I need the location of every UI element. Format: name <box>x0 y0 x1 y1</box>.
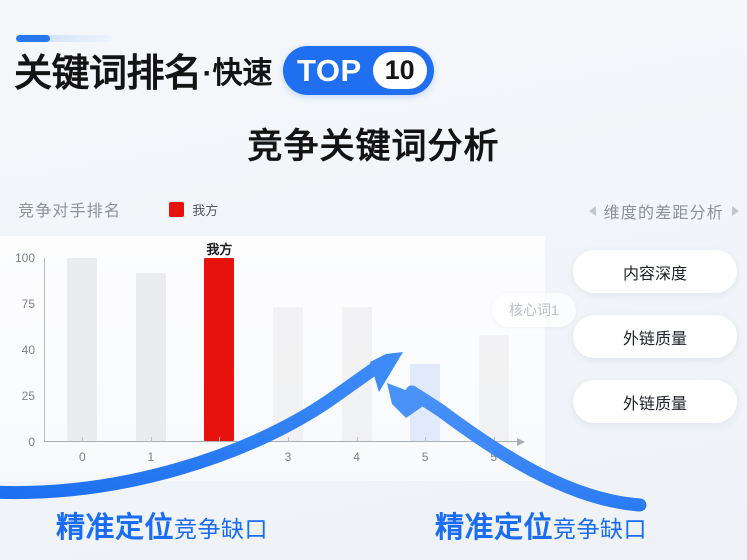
top-badge-label: TOP <box>297 55 373 86</box>
x-axis-tick <box>357 437 358 442</box>
x-axis-tick <box>425 437 426 442</box>
dimension-card[interactable]: 外链质量 <box>573 380 737 423</box>
x-axis-tick-label: 5 <box>490 450 497 464</box>
progress-bar <box>16 35 112 42</box>
x-axis-tick-label: 0 <box>79 450 86 464</box>
dimension-card-label: 外链质量 <box>623 390 687 414</box>
x-axis-tick-label: 3 <box>285 450 292 464</box>
dimension-card-list: 内容深度外链质量外链质量 <box>573 250 737 423</box>
top-rank-badge: TOP 10 <box>283 46 434 95</box>
y-axis-tick-label: 0 <box>28 435 35 449</box>
legend-swatch-mine <box>169 202 184 217</box>
dimension-panel-title: 维度的差距分析 <box>604 199 724 223</box>
highlight-bar-label: 我方 <box>206 239 232 258</box>
y-axis-tick-label: 100 <box>15 251 35 265</box>
section-title: 竞争关键词分析 <box>0 118 747 169</box>
caption-right-weak: 竞争缺口 <box>553 510 647 544</box>
y-axis-line <box>44 258 45 442</box>
dimension-card[interactable]: 外链质量 <box>573 315 737 358</box>
triangle-right-icon <box>732 206 739 216</box>
chart-plot-area: 1007540250 0123455 我方 <box>44 258 524 442</box>
top-badge-count: 10 <box>373 52 427 89</box>
x-axis-tick-label: 2 <box>216 450 223 464</box>
dimension-card-label: 外链质量 <box>623 325 687 349</box>
x-axis-tick-label: 1 <box>148 450 155 464</box>
bar-competitor <box>67 258 97 441</box>
slide-canvas: 关键词排名 ·快速 TOP 10 竞争关键词分析 竞争对手排名 我方 维度的差距… <box>0 0 747 560</box>
legend-label-mine: 我方 <box>192 200 218 219</box>
caption-left-strong: 精准定位 <box>56 504 174 546</box>
chart-legend: 我方 <box>169 200 218 219</box>
x-axis-line <box>44 441 524 442</box>
chart-axis-title: 竞争对手排名 <box>18 197 121 221</box>
caption-left-weak: 竞争缺口 <box>174 510 268 544</box>
headline: 关键词排名 ·快速 <box>14 48 273 100</box>
progress-bar-fill <box>16 35 50 42</box>
caption-left: 精准定位 竞争缺口 <box>56 504 268 546</box>
triangle-left-icon <box>589 206 596 216</box>
x-axis-arrow-icon <box>517 438 525 446</box>
x-axis-tick-label: 5 <box>422 450 429 464</box>
dimension-panel-header: 维度的差距分析 <box>589 199 739 223</box>
x-axis-tick <box>151 437 152 442</box>
headline-sub-text: ·快速 <box>203 59 273 89</box>
y-axis-tick-label: 25 <box>22 389 35 403</box>
x-axis-tick <box>82 437 83 442</box>
x-axis-tick <box>494 437 495 442</box>
headline-main-text: 关键词排名 <box>14 55 202 93</box>
y-axis-tick-label: 75 <box>22 297 35 311</box>
bar-competitor <box>273 307 303 441</box>
dimension-card-label: 内容深度 <box>623 260 687 284</box>
bar-chart: 1007540250 0123455 我方 <box>0 236 545 481</box>
x-axis-tick <box>288 437 289 442</box>
y-axis-tick-label: 40 <box>22 343 35 357</box>
dimension-card[interactable]: 内容深度 <box>573 250 737 293</box>
caption-right-strong: 精准定位 <box>435 504 553 546</box>
caption-right: 精准定位 竞争缺口 <box>435 504 647 546</box>
x-axis-tick <box>219 437 220 442</box>
chart-header: 竞争对手排名 我方 <box>18 197 218 221</box>
x-axis-tick-label: 4 <box>353 450 360 464</box>
bar-competitor <box>479 335 509 441</box>
bar-competitor <box>410 364 440 441</box>
core-word-pill: 核心词1 <box>492 293 576 327</box>
bar-competitor <box>342 307 372 441</box>
bar-competitor <box>136 273 166 441</box>
bar-highlight-mine <box>204 258 234 441</box>
